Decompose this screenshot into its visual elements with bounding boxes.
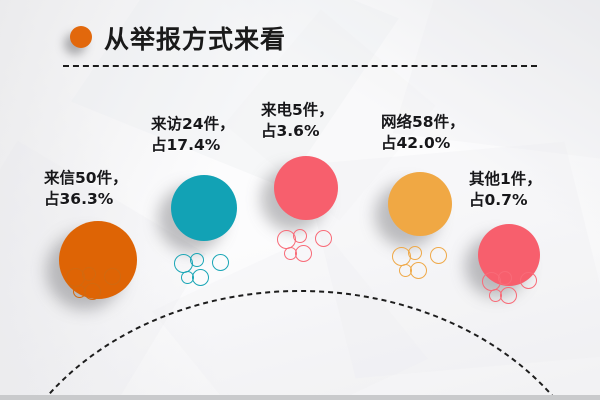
bubble-label-line2: 占36.3% <box>44 189 128 210</box>
decor-circle <box>498 271 512 285</box>
decor-circle <box>410 262 427 279</box>
decor-circle <box>190 253 204 267</box>
bullet-circle-icon <box>70 26 92 48</box>
decor-circle <box>430 247 447 264</box>
decor-circle <box>500 287 517 304</box>
bubble-label-laixin: 来信50件， 占36.3% <box>44 168 128 209</box>
bubble-label-line2: 占3.6% <box>261 121 334 142</box>
bubble-label-line1: 来信50件， <box>44 168 128 189</box>
slide-canvas: 从举报方式来看 来信50件， 占36.3% 来访24件， 占17.4% <box>0 0 600 400</box>
bubble-label-line2: 占0.7% <box>469 190 542 211</box>
decor-bubble-cluster-qita <box>482 270 544 312</box>
bubble-label-qita: 其他1件， 占0.7% <box>469 169 542 210</box>
bubble-circle-laifang[interactable] <box>171 175 237 241</box>
bubble-label-line1: 来电5件， <box>261 100 334 121</box>
decor-circle <box>212 254 229 271</box>
decor-bubble-cluster-laifang <box>174 252 236 294</box>
decor-circle <box>293 229 307 243</box>
bubble-label-line1: 网络58件， <box>381 112 465 133</box>
decor-bubble-cluster-laidian <box>277 228 339 270</box>
decor-circle <box>520 272 537 289</box>
decor-circle <box>295 245 312 262</box>
bubble-label-laifang: 来访24件， 占17.4% <box>151 114 235 155</box>
bubble-label-line1: 其他1件， <box>469 169 542 190</box>
bottom-strip <box>0 395 600 400</box>
bubble-label-laidian: 来电5件， 占3.6% <box>261 100 334 141</box>
decor-bubble-cluster-wangluo <box>392 245 454 287</box>
bubble-circle-laidian[interactable] <box>274 156 338 220</box>
decor-circle <box>104 268 121 285</box>
decor-circle <box>82 267 96 281</box>
bubble-label-line2: 占42.0% <box>381 133 465 154</box>
title-divider <box>63 65 537 67</box>
bubble-circle-wangluo[interactable] <box>388 172 452 236</box>
decor-circle <box>192 269 209 286</box>
decor-circle <box>315 230 332 247</box>
bubble-label-wangluo: 网络58件， 占42.0% <box>381 112 465 153</box>
page-title: 从举报方式来看 <box>104 20 286 56</box>
bubble-label-line1: 来访24件， <box>151 114 235 135</box>
slide-header: 从举报方式来看 <box>0 0 600 75</box>
decor-circle <box>408 246 422 260</box>
bubble-label-line2: 占17.4% <box>151 135 235 156</box>
decor-bubble-cluster-laixin <box>66 266 128 308</box>
decor-circle <box>84 283 101 300</box>
